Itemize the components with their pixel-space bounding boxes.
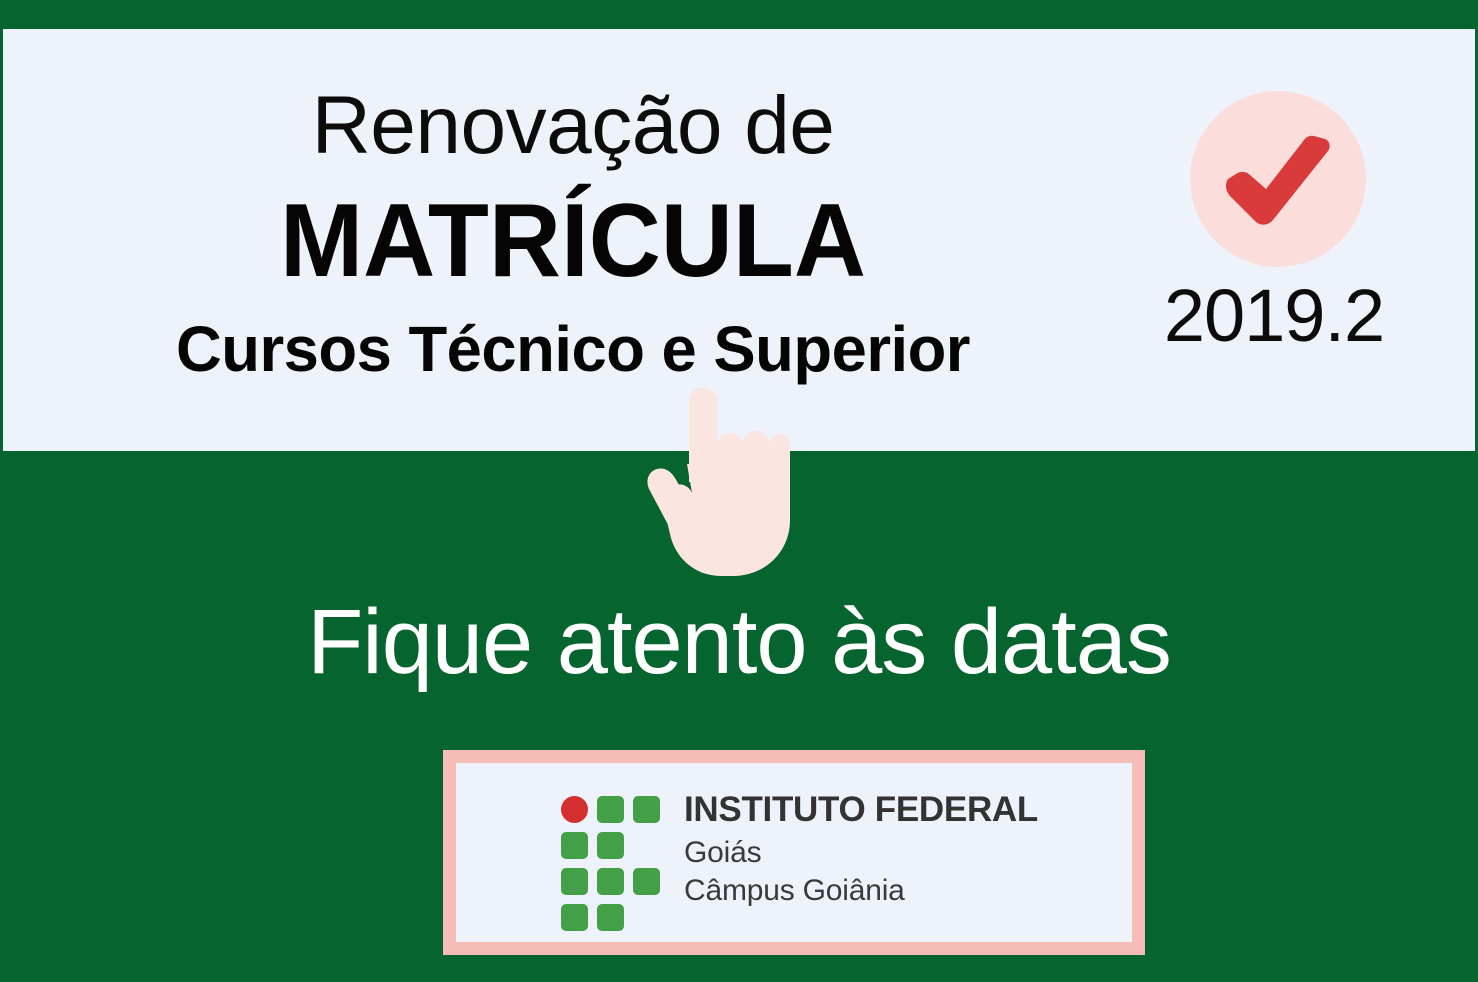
logo-square [561,904,588,931]
poster-canvas: Renovação de MATRÍCULA Cursos Técnico e … [0,0,1478,982]
headline-line-cursos: Cursos Técnico e Superior [9,317,1138,381]
logo-card-inner: INSTITUTO FEDERAL Goiás Câmpus Goiânia [456,763,1132,942]
logo-square [597,868,624,895]
headline-block: Renovação de MATRÍCULA Cursos Técnico e … [3,29,1143,451]
logo-square [561,832,588,859]
check-icon [1222,135,1334,227]
logo-square [561,868,588,895]
pointing-hand-icon [645,386,790,581]
logo-square [597,904,624,931]
logo-dot-icon [561,796,588,823]
year-label: 2019.2 [1159,279,1389,353]
tagline-text: Fique atento às datas [0,596,1478,688]
ifg-grid-logo-icon [561,796,667,932]
year-badge-group: 2019.2 [1159,89,1389,389]
logo-square [597,796,624,823]
logo-text-block: INSTITUTO FEDERAL Goiás Câmpus Goiânia [684,791,1124,910]
logo-square [633,868,660,895]
check-badge-circle [1190,91,1366,267]
logo-square [633,796,660,823]
institution-logo-card: INSTITUTO FEDERAL Goiás Câmpus Goiânia [443,750,1145,955]
logo-title: INSTITUTO FEDERAL [684,791,1124,830]
logo-subtitle-campus: Câmpus Goiânia [684,872,1124,910]
headline-line-renovacao: Renovação de [3,85,1143,167]
logo-subtitle-state: Goiás [684,834,1124,872]
headline-line-matricula: MATRÍCULA [26,189,1120,293]
logo-square [597,832,624,859]
